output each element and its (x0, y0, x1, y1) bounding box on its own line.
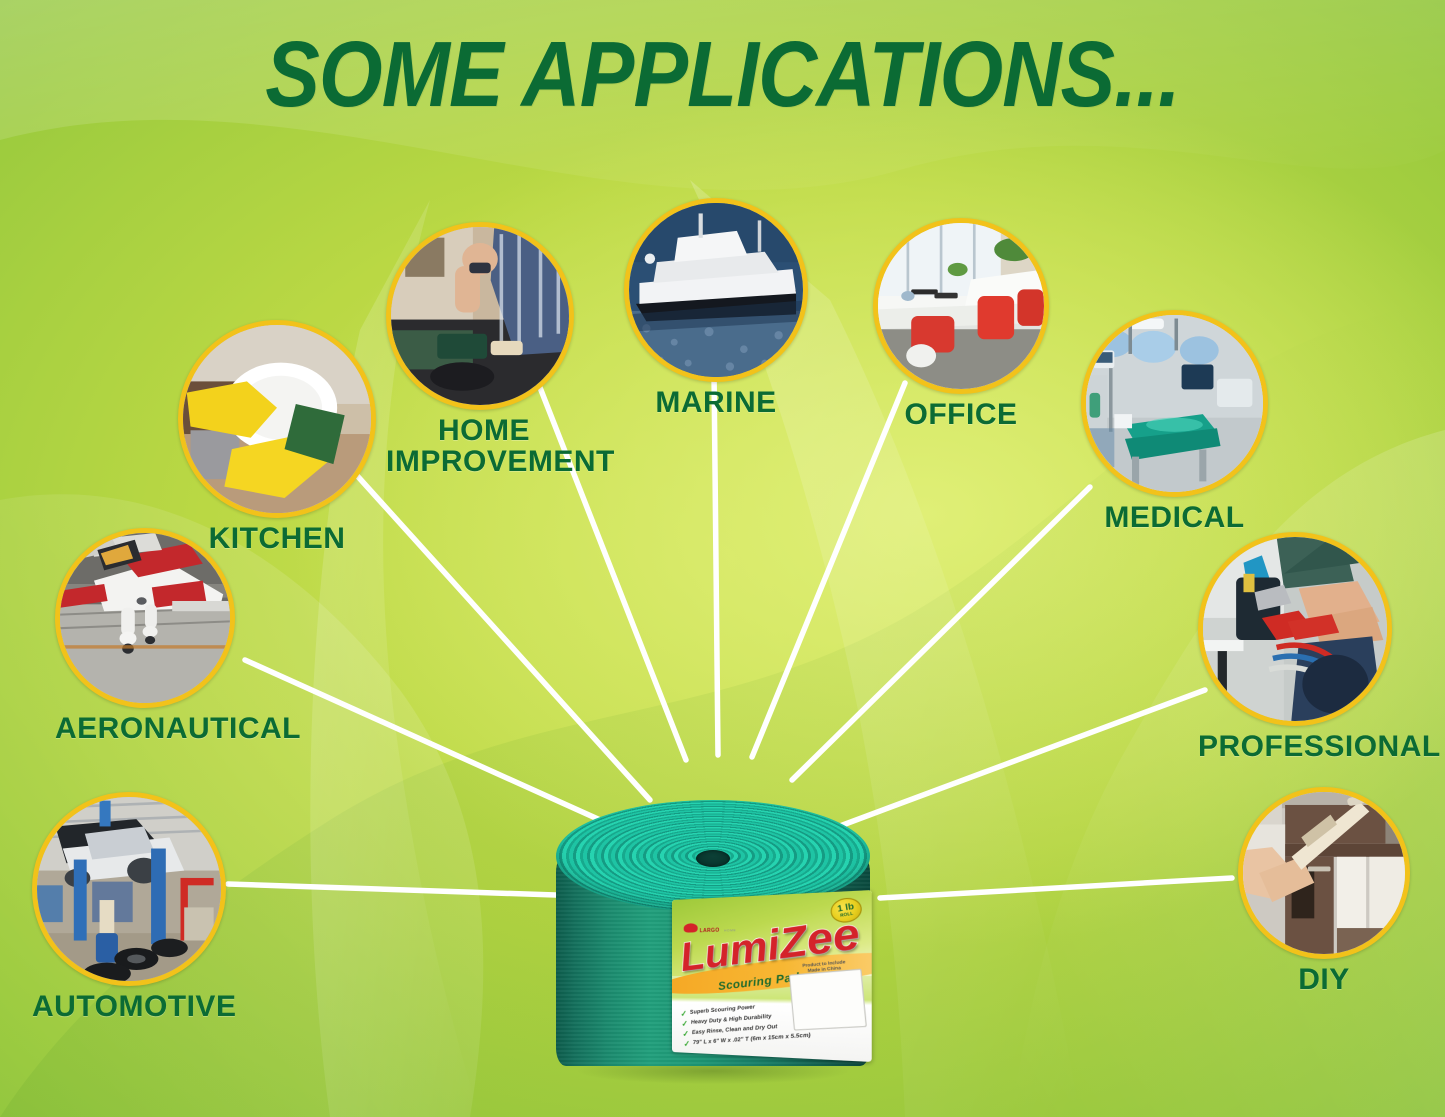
roll-center-hole (696, 850, 730, 867)
office-photo (878, 223, 1044, 389)
check-icon: ✓ (683, 1040, 690, 1048)
marine-photo (629, 203, 803, 377)
automotive-photo (37, 797, 221, 981)
caption-diy: DIY (1238, 965, 1410, 996)
check-icon: ✓ (680, 1010, 687, 1019)
page-title: SOME APPLICATIONS... (87, 28, 1359, 121)
weight-badge-unit: ROLL (840, 911, 854, 918)
caption-automotive: AUTOMOTIVE (32, 992, 226, 1023)
bubble-professional[interactable] (1198, 532, 1392, 726)
kitchen-photo (183, 325, 371, 513)
bubble-diy[interactable] (1238, 787, 1410, 959)
check-icon: ✓ (682, 1030, 689, 1039)
bubble-medical[interactable] (1081, 310, 1268, 497)
diy-photo (1243, 792, 1405, 954)
caption-professional: PROFESSIONAL (1198, 732, 1392, 763)
bubble-kitchen[interactable] (178, 320, 376, 518)
application-node-medical[interactable]: MEDICAL (1081, 310, 1268, 534)
brand-logo-mark (684, 923, 698, 933)
check-icon: ✓ (681, 1020, 688, 1029)
aeronautical-photo (60, 533, 230, 703)
product-scouring-pad-roll[interactable]: LARGO HOME LumiZee Scouring Pad 1 lb ROL… (548, 800, 878, 1100)
application-node-home-improvement[interactable]: HOME IMPROVEMENT (386, 222, 582, 477)
bubble-aeronautical[interactable] (55, 528, 235, 708)
medical-photo (1086, 315, 1263, 492)
applications-infographic-poster: SOME APPLICATIONS... (0, 0, 1445, 1117)
caption-home-improvement: HOME IMPROVEMENT (386, 416, 582, 477)
professional-photo (1203, 537, 1387, 721)
application-node-kitchen[interactable]: KITCHEN (178, 320, 376, 555)
bubble-automotive[interactable] (32, 792, 226, 986)
home-improvement-photo (391, 227, 569, 405)
product-label[interactable]: LARGO HOME LumiZee Scouring Pad 1 lb ROL… (672, 890, 872, 1062)
application-node-professional[interactable]: PROFESSIONAL (1198, 532, 1392, 763)
caption-marine: MARINE (624, 388, 808, 419)
label-info-panel: Product to Include Made in China (789, 969, 867, 1031)
bubble-home-improvement[interactable] (386, 222, 574, 410)
application-node-aeronautical[interactable]: AERONAUTICAL (55, 528, 255, 745)
bubble-office[interactable] (873, 218, 1049, 394)
application-node-diy[interactable]: DIY (1238, 787, 1410, 996)
application-node-office[interactable]: OFFICE (873, 218, 1049, 431)
bubble-marine[interactable] (624, 198, 808, 382)
caption-medical: MEDICAL (1081, 503, 1268, 534)
application-node-automotive[interactable]: AUTOMOTIVE (32, 792, 226, 1023)
caption-aeronautical: AERONAUTICAL (55, 714, 255, 745)
caption-office: OFFICE (873, 400, 1049, 431)
application-node-marine[interactable]: MARINE (624, 198, 808, 419)
